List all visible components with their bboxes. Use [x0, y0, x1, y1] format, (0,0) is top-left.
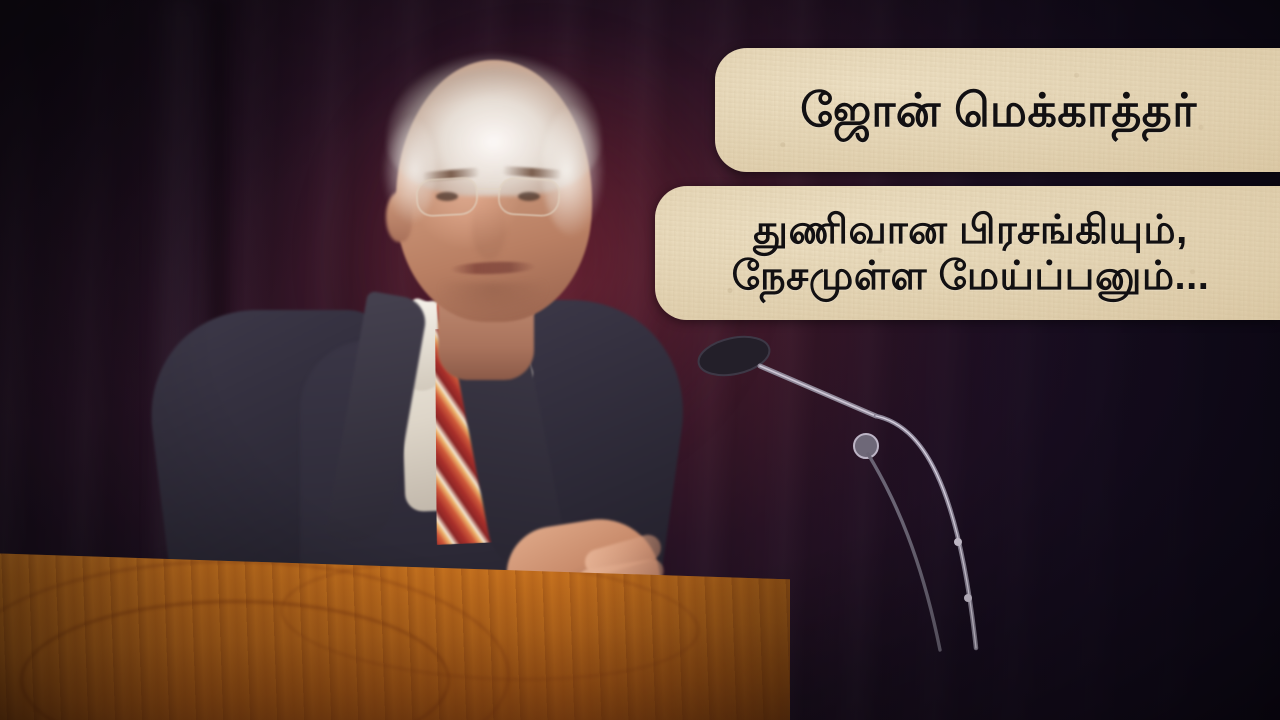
speaker-name-banner: ஜோன் மெக்காத்தர் — [715, 48, 1280, 172]
image-canvas: ஜோன் மெக்காத்தர் துணிவான பிரசங்கியும், ந… — [0, 0, 1280, 720]
speaker-description-banner: துணிவான பிரசங்கியும், நேசமுள்ள மேய்ப்பனு… — [655, 186, 1280, 320]
speaker-description-text: துணிவான பிரசங்கியும், நேசமுள்ள மேய்ப்பனு… — [710, 207, 1226, 300]
speaker-name-text: ஜோன் மெக்காத்தர் — [774, 86, 1221, 135]
